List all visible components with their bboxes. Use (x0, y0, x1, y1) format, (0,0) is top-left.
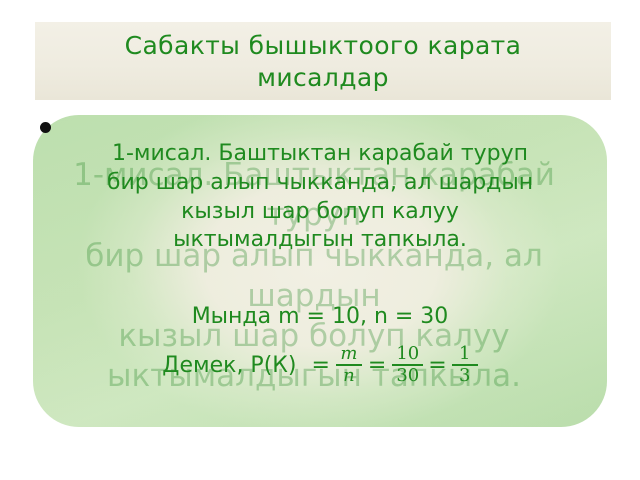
formula-lead-label: Демек, Р(К) (162, 353, 305, 378)
slide-canvas: Сабакты бышыктоого карата мисалдар 1-мис… (0, 0, 640, 480)
fraction-denominator-3: 3 (455, 366, 474, 385)
fraction-m-over-n: m n (336, 345, 362, 386)
equals-sign-2: = (367, 353, 387, 378)
probability-formula: Демек, Р(К) = m n = 10 30 = 1 3 (33, 345, 607, 386)
bullet-point-marker (40, 122, 51, 133)
example-problem-text: 1-мисал. Баштыктан карабай туруп бир шар… (33, 140, 607, 255)
fraction-10-over-30: 10 30 (392, 345, 423, 386)
fraction-numerator-10: 10 (392, 345, 423, 364)
fraction-denominator-n: n (339, 366, 359, 385)
equals-sign-1: = (310, 353, 330, 378)
page-title: Сабакты бышыктоого карата мисалдар (35, 23, 611, 101)
equals-sign-3: = (428, 353, 446, 378)
fraction-1-over-3: 1 3 (452, 345, 478, 386)
fraction-numerator-1: 1 (455, 345, 474, 364)
given-values-line: Мында m = 10, n = 30 (33, 303, 607, 331)
fraction-denominator-30: 30 (392, 366, 423, 385)
fraction-numerator-m: m (336, 345, 361, 364)
